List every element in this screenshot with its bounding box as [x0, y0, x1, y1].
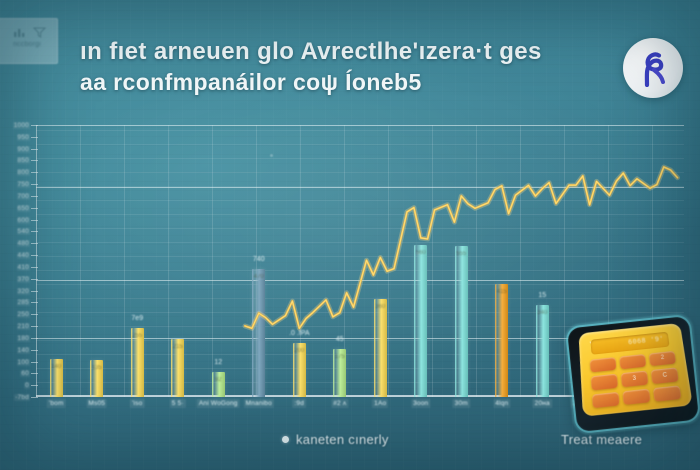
- y-axis-tick: 540: [17, 227, 30, 236]
- y-axis-tick-label: 850: [17, 157, 30, 164]
- artifact-speck: [270, 154, 273, 157]
- y-axis-tick: 410: [17, 263, 30, 272]
- legend-label-trend: Treat meaere: [561, 432, 642, 447]
- y-axis-tick: 800: [17, 168, 30, 177]
- y-axis-tick-label: 1000: [13, 122, 30, 129]
- y-axis-tick-label: 900: [17, 146, 30, 153]
- title-line-1: ın fıet arneuen glo Avrectlhe'ızera·t ge…: [80, 36, 640, 67]
- calculator-illustration: 6068 '9' 23C: [567, 316, 699, 432]
- y-axis-tick-label: 410: [17, 264, 30, 271]
- y-axis-tick: 100: [17, 358, 30, 367]
- y-axis-tick-label: 0: [24, 382, 30, 389]
- bar-inner-label: 255: [132, 333, 142, 339]
- ghost-panel-icons: [0, 19, 57, 41]
- y-axis-tick: 140: [17, 346, 30, 355]
- y-axis-tick-label: 250: [17, 311, 30, 318]
- y-axis-tick-label: -7bd: [14, 394, 30, 401]
- y-axis-tick-label: 950: [17, 134, 30, 141]
- y-axis-tick: 900: [17, 145, 30, 154]
- bar[interactable]: 1292: [212, 372, 225, 397]
- y-axis-tick: 370: [17, 275, 30, 284]
- bar-inner-label: 200: [294, 348, 304, 354]
- y-axis-tick-label: 180: [17, 335, 30, 342]
- bar-inner-label: 92: [215, 377, 222, 383]
- logo-glyph: [636, 49, 670, 87]
- y-axis-tick-label: 320: [17, 288, 30, 295]
- calculator-display-value: 6068 '9': [628, 335, 665, 346]
- calculator-key: [653, 385, 682, 402]
- x-axis-tick-label: 'bom: [47, 399, 66, 408]
- calculator-keypad: 23C: [589, 350, 682, 408]
- y-axis-tick-label: 480: [17, 240, 30, 247]
- r-monogram-logo: [623, 38, 683, 98]
- y-axis-tick-mark: [31, 397, 38, 398]
- legend-label-bars: kaneten cınerly: [296, 432, 389, 447]
- bar-inner-label: 360: [375, 304, 385, 310]
- calculator-key: [619, 354, 646, 370]
- bar[interactable]: 360: [374, 299, 387, 397]
- y-axis-tick-label: 100: [17, 359, 30, 366]
- filter-icon[interactable]: [33, 25, 46, 36]
- bar-inner-label: 415: [497, 289, 507, 295]
- bar-inner-label: 175: [335, 354, 345, 360]
- x-axis-tick-label: 30m: [453, 399, 470, 408]
- y-axis-tick: 60: [20, 369, 30, 378]
- bar[interactable]: 45175: [333, 349, 346, 397]
- bar[interactable]: .0 .fPA200: [293, 343, 306, 397]
- bar-value-label: 12: [214, 359, 222, 366]
- bar-inner-label: 135: [92, 365, 102, 371]
- chart-icon[interactable]: [13, 25, 26, 36]
- y-axis-tick-label: 370: [17, 276, 30, 283]
- legend-item-bars[interactable]: kaneten cınerly: [282, 432, 389, 447]
- y-axis-tick-label: 285: [17, 299, 30, 306]
- bar-value-label: 45: [336, 336, 344, 343]
- y-axis-tick-label: 750: [17, 181, 30, 188]
- bar-value-label: 740: [253, 256, 265, 263]
- y-axis-tick: 1000: [13, 121, 30, 130]
- calculator-key: C: [651, 367, 679, 383]
- y-axis-tick: -7bd: [14, 393, 30, 402]
- bar-value-label: 7e9: [131, 315, 143, 322]
- y-axis-tick-label: 700: [17, 193, 30, 200]
- bar[interactable]: 555: [455, 246, 468, 397]
- y-axis-tick-label: 540: [17, 228, 30, 235]
- y-axis-tick: 250: [17, 310, 30, 319]
- y-axis-tick: 600: [17, 216, 30, 225]
- calculator-key: [589, 357, 616, 373]
- bar-inner-label: 340: [537, 310, 547, 316]
- x-axis-tick-label: 4lqn: [493, 399, 510, 408]
- x-axis-tick-label: 5 5·: [170, 399, 186, 408]
- bar[interactable]: 135: [90, 360, 103, 397]
- calculator-key: [622, 388, 650, 405]
- bar-inner-label: 555: [456, 251, 466, 257]
- bar[interactable]: 560: [414, 245, 427, 397]
- x-axis-tick-label: :9d: [292, 399, 306, 408]
- y-axis-tick: 210: [17, 322, 30, 331]
- artifact-speck: [416, 252, 420, 255]
- x-axis-tick-label: #2 ʌ: [331, 399, 348, 408]
- bar[interactable]: 215: [171, 339, 184, 397]
- bar-inner-label: 470: [254, 274, 264, 280]
- y-axis-tick-label: 600: [17, 217, 30, 224]
- calculator-key: [591, 392, 619, 409]
- y-axis-tick: 700: [17, 192, 30, 201]
- y-axis-tick-label: 650: [17, 205, 30, 212]
- title-line-2: aa rconfmpanáilor coψ Íoneb5: [80, 67, 640, 98]
- x-axis-tick-label: Ani WoGong: [197, 399, 240, 408]
- chart-legend: kaneten cınerly Treat meaere: [0, 430, 700, 456]
- x-axis-tick-label: 20ʜa: [533, 399, 552, 408]
- y-axis-tick-label: 60: [20, 370, 30, 377]
- x-axis-tick-label: 3oon: [411, 399, 430, 408]
- y-axis-tick: 440: [17, 251, 30, 260]
- x-axis-tick-label: 1Ao: [372, 399, 388, 408]
- calculator-display: 6068 '9': [590, 331, 670, 354]
- y-axis-tick: 320: [17, 287, 30, 296]
- toolbar-ghost-panel[interactable]: nccborgi: [0, 18, 58, 64]
- bar-inner-label: 140: [51, 364, 61, 370]
- legend-marker-dot: [282, 436, 289, 443]
- calculator-key: 3: [621, 371, 649, 387]
- bar-value-label: .0 .fPA: [289, 330, 310, 337]
- x-axis-tick-label: 'iso: [130, 399, 144, 408]
- x-axis-tick-label: Mnanibo: [244, 399, 274, 408]
- x-axis-tick-label: Ms05: [86, 399, 107, 408]
- y-axis-tick: 285: [17, 298, 30, 307]
- y-axis-tick: 0: [24, 381, 30, 390]
- y-axis-tick: 750: [17, 180, 30, 189]
- y-axis-tick: 650: [17, 204, 30, 213]
- bar-value-label: 15: [538, 292, 546, 299]
- bar[interactable]: 740470: [252, 269, 265, 397]
- y-axis-tick: 480: [17, 239, 30, 248]
- ghost-panel-label: nccborgi: [0, 41, 57, 48]
- bar[interactable]: 415: [495, 284, 508, 397]
- y-axis-tick-label: 800: [17, 169, 30, 176]
- screenshot-canvas: nccborgi ın fıet arneuen glo Avrectlhe'ı…: [0, 0, 700, 470]
- y-axis-tick-label: 210: [17, 323, 30, 330]
- bar[interactable]: 15340: [536, 305, 549, 397]
- bar-inner-label: 215: [173, 344, 183, 350]
- calculator-key: [590, 374, 617, 390]
- y-axis-tick-labels: 1000950900850800750700650600540480440410…: [2, 125, 34, 397]
- legend-item-trend[interactable]: Treat meaere: [540, 432, 642, 447]
- calculator-key: 2: [649, 350, 677, 366]
- y-axis-tick: 850: [17, 156, 30, 165]
- y-axis-tick-label: 440: [17, 252, 30, 259]
- y-axis-tick-label: 140: [17, 347, 30, 354]
- bar[interactable]: 7e9255: [131, 328, 144, 397]
- calculator-face: 6068 '9' 23C: [579, 323, 693, 417]
- page-title: ın fıet arneuen glo Avrectlhe'ızera·t ge…: [80, 36, 640, 98]
- y-axis-tick: 950: [17, 133, 30, 142]
- y-axis-tick: 180: [17, 334, 30, 343]
- bar[interactable]: 140: [50, 359, 63, 397]
